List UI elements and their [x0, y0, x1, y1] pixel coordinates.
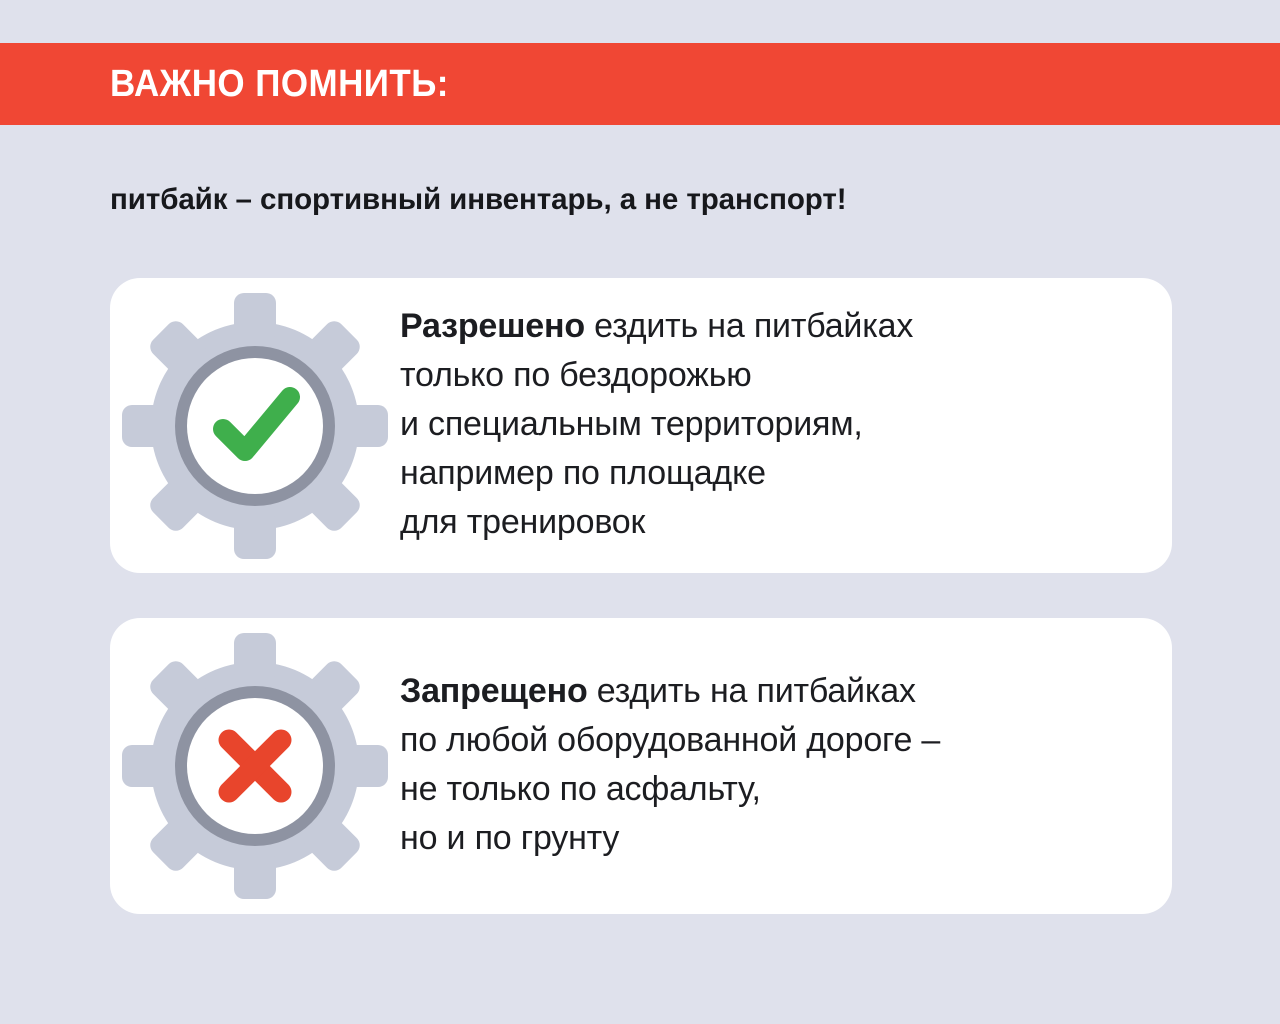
card-forbidden: Запрещено ездить на питбайках по любой о…	[110, 618, 1172, 914]
infographic-poster: ВАЖНО ПОМНИТЬ: питбайк – спортивный инве…	[0, 0, 1280, 1024]
card-forbidden-line-4: но и по грунту	[400, 814, 1142, 863]
card-allowed-line-1-rest: ездить на питбайках	[585, 307, 913, 345]
card-allowed-line-2: только по бездорожью	[400, 351, 1142, 400]
card-allowed-lead: Разрешено	[400, 307, 585, 345]
card-allowed-line-1: Разрешено ездить на питбайках	[400, 302, 1142, 351]
gear-cross-icon	[110, 633, 400, 899]
card-allowed: Разрешено ездить на питбайках только по …	[110, 278, 1172, 573]
card-allowed-line-4: например по площадке	[400, 449, 1142, 498]
card-forbidden-line-1: Запрещено ездить на питбайках	[400, 667, 1142, 716]
card-forbidden-line-1-rest: ездить на питбайках	[588, 672, 916, 710]
gear-check-icon	[110, 293, 400, 559]
card-forbidden-lead: Запрещено	[400, 672, 588, 710]
card-forbidden-line-3: не только по асфальту,	[400, 765, 1142, 814]
subheading: питбайк – спортивный инвентарь, а не тра…	[110, 182, 1184, 218]
card-forbidden-text: Запрещено ездить на питбайках по любой о…	[400, 667, 1172, 863]
header-banner: ВАЖНО ПОМНИТЬ:	[0, 43, 1280, 125]
header-title: ВАЖНО ПОМНИТЬ:	[110, 65, 449, 103]
card-forbidden-line-2: по любой оборудованной дороге –	[400, 716, 1142, 765]
card-allowed-text: Разрешено ездить на питбайках только по …	[400, 302, 1172, 547]
card-allowed-line-3: и специальным территориям,	[400, 400, 1142, 449]
card-allowed-line-5: для тренировок	[400, 498, 1142, 547]
